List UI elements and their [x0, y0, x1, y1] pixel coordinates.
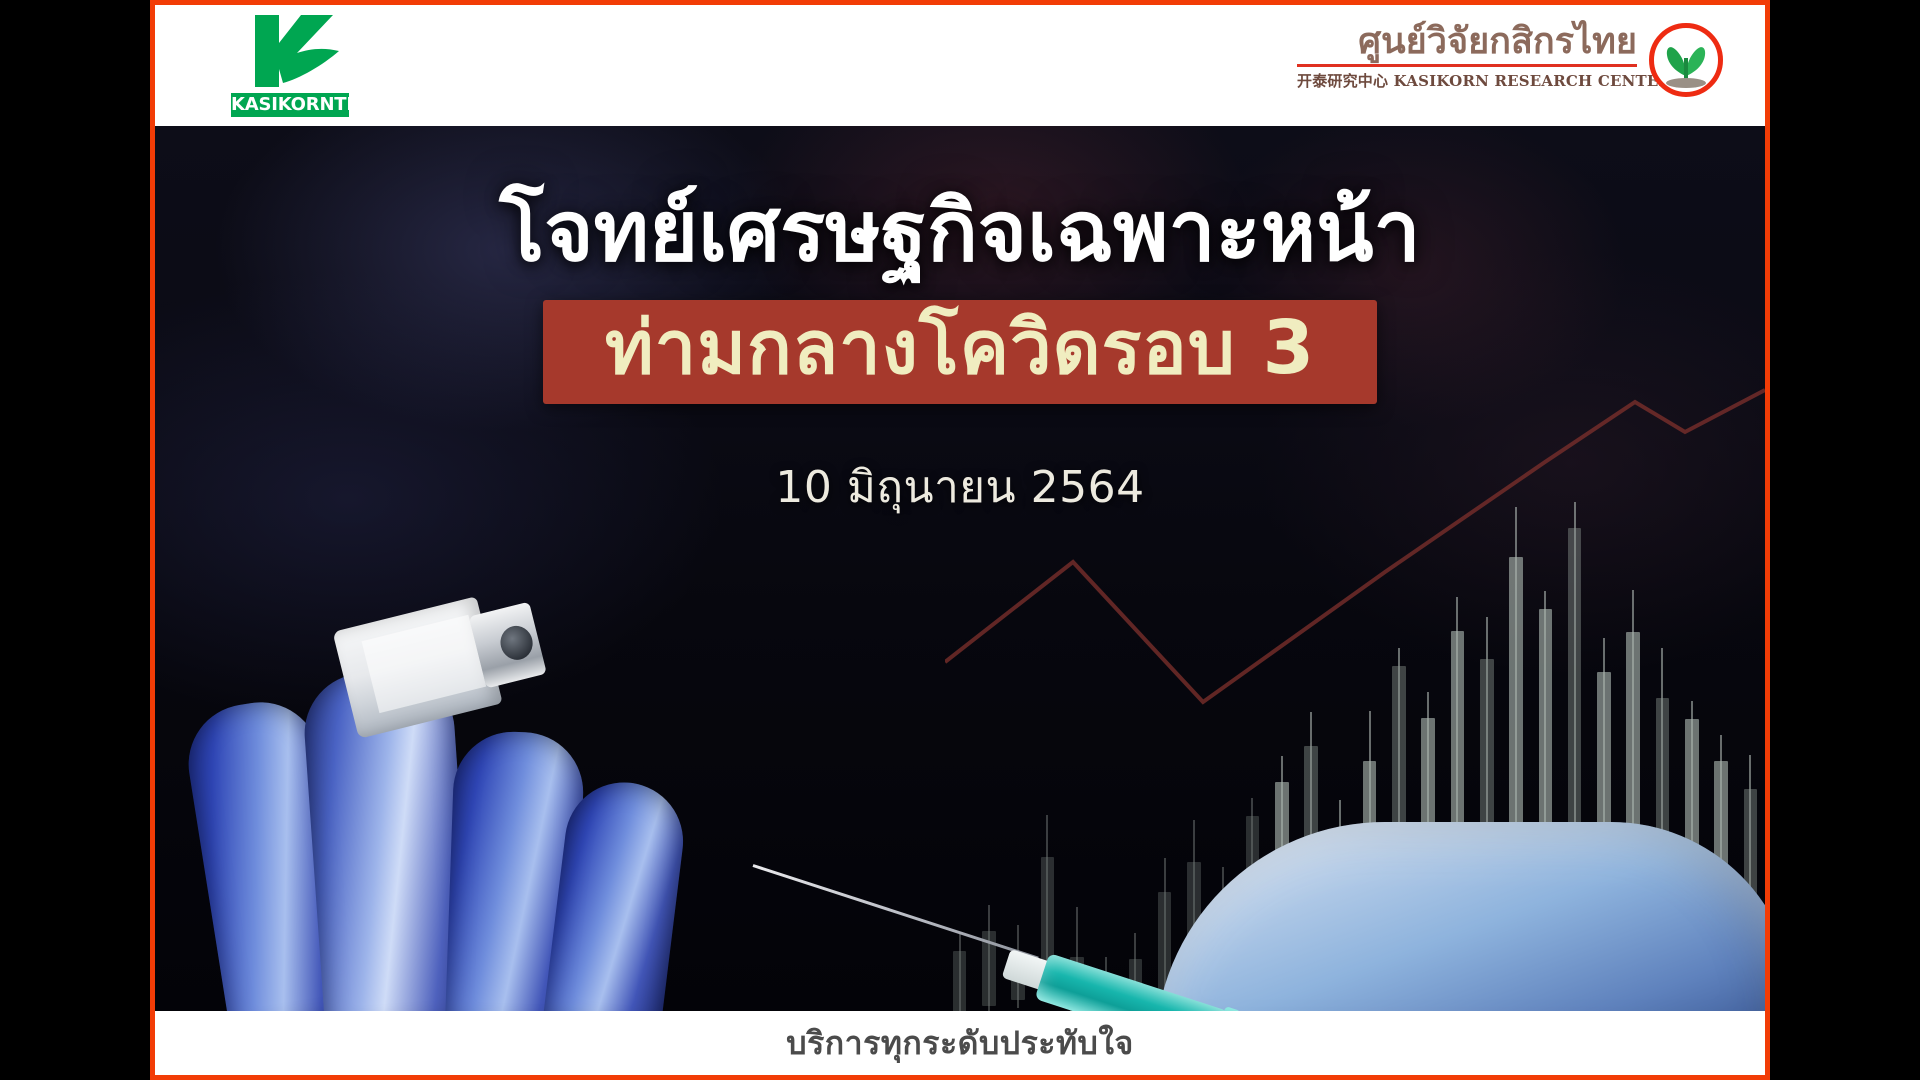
covid-19-vaccine-vial-icon — [332, 584, 557, 757]
kresearch-underline — [1297, 64, 1637, 67]
screenshot-root: KASIKORNTHAI ศูนย์วิจัยกสิกรไทย 开泰研究中心 K… — [0, 0, 1920, 1080]
footer-tagline: บริการทุกระดับประทับใจ — [786, 1018, 1133, 1069]
slide-header: KASIKORNTHAI ศูนย์วิจัยกสิกรไทย 开泰研究中心 K… — [155, 5, 1765, 126]
blue-gloved-hand-icon — [195, 592, 755, 1012]
subtitle-banner: ท่ามกลางโควิดรอบ 3 — [543, 300, 1377, 404]
candlestick-body — [953, 951, 966, 1012]
hero-headline-block: โจทย์เศรษฐกิจเฉพาะหน้า ท่ามกลางโควิดรอบ … — [155, 184, 1765, 522]
kasikornbank-logo: KASIKORNTHAI — [225, 13, 355, 121]
candlestick-bar — [953, 951, 966, 1012]
kasikornbank-wordmark: KASIKORNTHAI — [231, 93, 349, 117]
green-sprout-in-red-circle-icon — [1649, 23, 1723, 97]
kasikornbank-k-icon — [239, 13, 341, 93]
presentation-date: 10 มิถุนายน 2564 — [155, 452, 1765, 522]
page-title: โจทย์เศรษฐกิจเฉพาะหน้า — [155, 184, 1765, 278]
subtitle-text: ท่ามกลางโควิดรอบ 3 — [605, 306, 1315, 390]
hero-background-photo: โจทย์เศรษฐกิจเฉพาะหน้า ท่ามกลางโควิดรอบ … — [155, 126, 1765, 1012]
kresearch-thai-name: ศูนย์วิจัยกสิกรไทย — [1297, 21, 1637, 63]
kresearch-sub-name: 开泰研究中心 KASIKORN RESEARCH CENTER — [1297, 70, 1637, 91]
presentation-slide: KASIKORNTHAI ศูนย์วิจัยกสิกรไทย 开泰研究中心 K… — [150, 0, 1770, 1080]
slide-footer: บริการทุกระดับประทับใจ — [155, 1011, 1765, 1075]
kasikorn-research-center-wordmark: ศูนย์วิจัยกสิกรไทย 开泰研究中心 KASIKORN RESEA… — [1297, 21, 1637, 91]
